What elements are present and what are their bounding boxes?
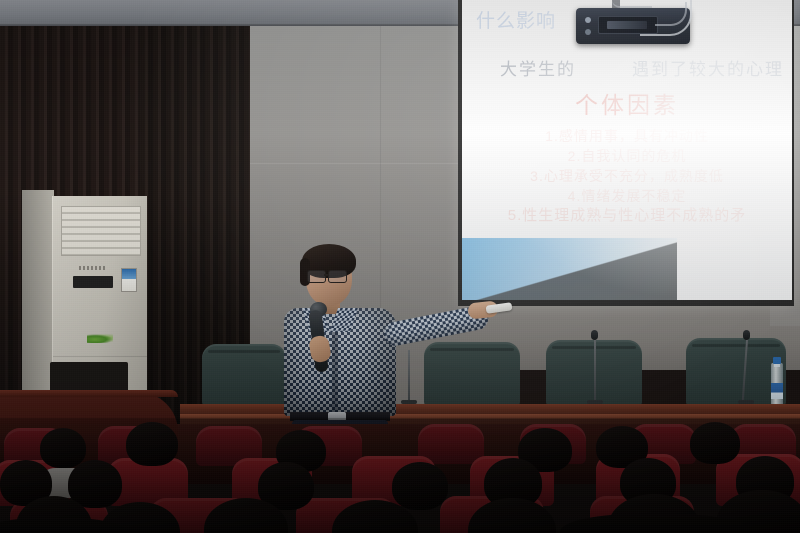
projector-indicator-light [585,17,591,23]
projection-screen: 什么影响 大学生的 遇到了较大的心理 个体因素 1.感情用事，具有冲动性 2.自… [462,0,792,300]
shirt-placket [332,326,338,416]
energy-label-icon [121,268,137,292]
air-conditioner-display [73,276,113,288]
air-conditioner-grille [61,206,141,256]
slide-bullet-2: 2.自我认同的危机 [462,146,792,166]
bottle-label [771,383,783,399]
projector-button [585,29,591,35]
air-conditioner-seam [53,356,147,357]
slide-bullet-list: 1.感情用事，具有冲动性 2.自我认同的危机 3.心理承受不充分，成熟度低 4.… [462,126,792,226]
audience-head [126,422,178,466]
leaf-decal-icon [87,334,113,343]
slide-bullet-5: 5.性生理成熟与性心理不成熟的矛 [462,206,792,226]
slide-bullet-4: 4.情绪发展不稳定 [462,186,792,206]
stage-chair [202,344,286,406]
slide-subline-left: 大学生的 [500,55,576,80]
lecture-hall-photo: 什么影响 大学生的 遇到了较大的心理 个体因素 1.感情用事，具有冲动性 2.自… [0,0,800,533]
audience-head [40,428,86,468]
air-conditioner-brand-mark [79,266,107,270]
audience-head [690,422,740,464]
slide-bullet-3: 3.心理承受不充分，成熟度低 [462,166,792,186]
gooseneck-microphone [594,338,596,402]
gray-wall-seam [250,163,475,164]
slide-section-title: 个体因素 [462,86,792,120]
audience-area [0,418,800,533]
slide-subline-right: 遇到了较大的心理 [632,55,784,80]
glasses-bridge [324,274,329,276]
bottle-cap [773,357,781,364]
audience-head [392,462,448,510]
microphone-head [743,330,750,340]
glasses-icon [307,270,326,283]
microphone-head [591,330,598,340]
glasses-icon [328,270,347,283]
slide-bullet-1: 1.感情用事，具有冲动性 [462,126,792,146]
slide-headline: 什么影响 [476,6,556,33]
dark-box-below-ac [50,362,128,392]
water-bottle [770,355,784,407]
stage-left-panel-top [0,390,178,397]
